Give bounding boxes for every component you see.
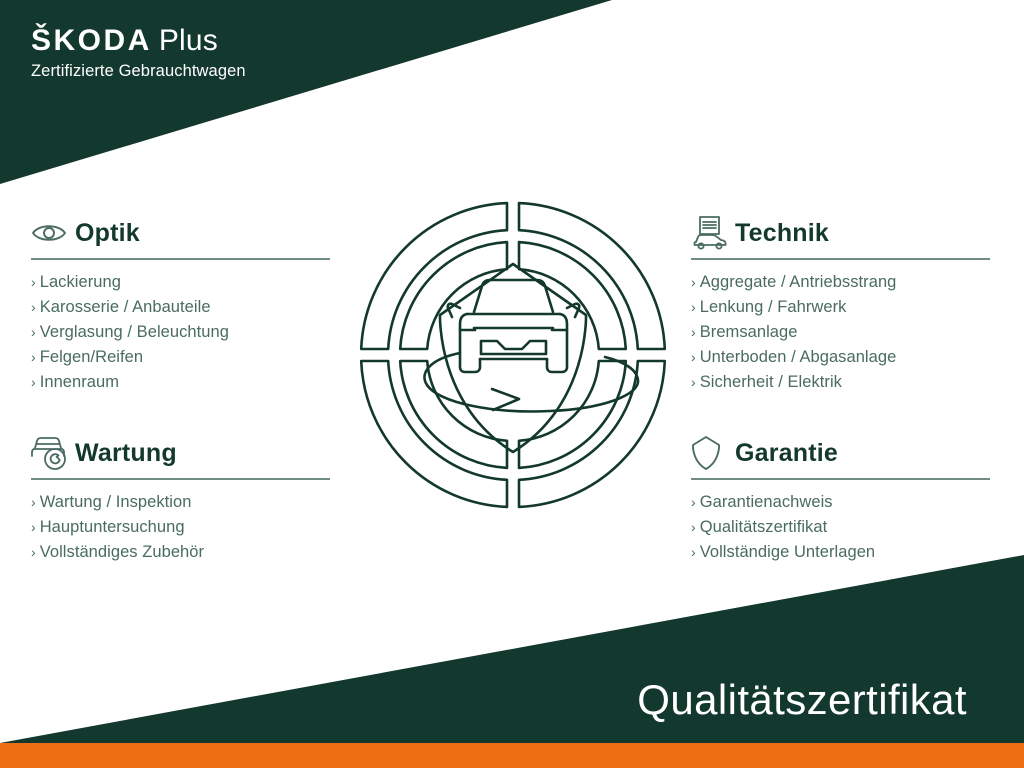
list-item: ›Vollständiges Zubehör <box>31 540 331 565</box>
chevron-right-icon: › <box>691 494 696 510</box>
list-item-label: Garantienachweis <box>700 493 833 511</box>
list-item: ›Wartung / Inspektion <box>31 490 331 515</box>
footer-title: Qualitätszertifikat <box>637 676 967 724</box>
car-document-icon <box>691 214 735 252</box>
list-item-label: Unterboden / Abgasanlage <box>700 348 897 366</box>
section-wartung: Wartung ›Wartung / Inspektion ›Hauptunte… <box>31 432 331 565</box>
brand-tagline: Zertifizierte Gebrauchtwagen <box>31 60 246 82</box>
list-item: ›Verglasung / Beleuchtung <box>31 320 331 345</box>
orange-accent-bar <box>0 743 1024 768</box>
chevron-right-icon: › <box>31 544 36 560</box>
content-area: Optik ›Lackierung ›Karosserie / Anbautei… <box>0 0 1024 768</box>
chevron-right-icon: › <box>691 324 696 340</box>
list-item: ›Qualitätszertifikat <box>691 515 991 540</box>
list-item-label: Felgen/Reifen <box>40 348 143 366</box>
chevron-right-icon: › <box>691 519 696 535</box>
list-item: ›Garantienachweis <box>691 490 991 515</box>
section-garantie: Garantie ›Garantienachweis ›Qualitätszer… <box>691 432 991 565</box>
eye-icon <box>31 214 75 252</box>
chevron-right-icon: › <box>31 374 36 390</box>
section-header: Wartung <box>31 432 331 474</box>
section-title: Technik <box>735 219 829 248</box>
list-item-label: Bremsanlage <box>700 323 798 341</box>
brand-logo: ŠKODAPlus <box>31 24 246 58</box>
list-item: ›Innenraum <box>31 370 331 395</box>
list-item: ›Karosserie / Anbauteile <box>31 295 331 320</box>
section-divider <box>31 478 330 480</box>
section-divider <box>691 478 990 480</box>
chevron-right-icon: › <box>31 299 36 315</box>
section-optik: Optik ›Lackierung ›Karosserie / Anbautei… <box>31 212 331 395</box>
list-item-label: Lenkung / Fahrwerk <box>700 298 847 316</box>
certificate-page: ŠKODAPlus Zertifizierte Gebrauchtwagen Q… <box>0 0 1024 768</box>
section-header: Technik <box>691 212 991 254</box>
list-item-label: Hauptuntersuchung <box>40 518 185 536</box>
list-item-label: Vollständiges Zubehör <box>40 543 204 561</box>
brand-lockup: ŠKODAPlus Zertifizierte Gebrauchtwagen <box>31 24 246 82</box>
chevron-right-icon: › <box>31 324 36 340</box>
section-title: Garantie <box>735 439 838 468</box>
chevron-right-icon: › <box>31 519 36 535</box>
chevron-right-icon: › <box>691 349 696 365</box>
list-item-label: Lackierung <box>40 273 121 291</box>
list-item-label: Vollständige Unterlagen <box>700 543 875 561</box>
brand-logo-plus: Plus <box>159 24 218 57</box>
section-divider <box>691 258 990 260</box>
chevron-right-icon: › <box>31 494 36 510</box>
list-item: ›Vollständige Unterlagen <box>691 540 991 565</box>
shield-icon <box>691 434 735 472</box>
section-header: Optik <box>31 212 331 254</box>
list-item-label: Aggregate / Antriebsstrang <box>700 273 897 291</box>
section-list: ›Garantienachweis ›Qualitätszertifikat ›… <box>691 490 991 565</box>
list-item: ›Hauptuntersuchung <box>31 515 331 540</box>
section-title: Optik <box>75 219 140 248</box>
chevron-right-icon: › <box>691 544 696 560</box>
list-item: ›Felgen/Reifen <box>31 345 331 370</box>
car-wrench-icon <box>31 434 75 472</box>
list-item-label: Sicherheit / Elektrik <box>700 373 842 391</box>
section-technik: Technik ›Aggregate / Antriebsstrang ›Len… <box>691 212 991 395</box>
section-divider <box>31 258 330 260</box>
list-item-label: Verglasung / Beleuchtung <box>40 323 229 341</box>
brand-logo-mark: ŠKODA <box>31 24 152 57</box>
list-item: ›Bremsanlage <box>691 320 991 345</box>
list-item-label: Karosserie / Anbauteile <box>40 298 211 316</box>
list-item: ›Aggregate / Antriebsstrang <box>691 270 991 295</box>
section-title: Wartung <box>75 439 177 468</box>
section-list: ›Lackierung ›Karosserie / Anbauteile ›Ve… <box>31 270 331 395</box>
list-item: ›Lenkung / Fahrwerk <box>691 295 991 320</box>
chevron-right-icon: › <box>691 274 696 290</box>
section-list: ›Wartung / Inspektion ›Hauptuntersuchung… <box>31 490 331 565</box>
chevron-right-icon: › <box>31 349 36 365</box>
list-item-label: Wartung / Inspektion <box>40 493 192 511</box>
list-item: ›Unterboden / Abgasanlage <box>691 345 991 370</box>
chevron-right-icon: › <box>691 299 696 315</box>
section-header: Garantie <box>691 432 991 474</box>
chevron-right-icon: › <box>31 274 36 290</box>
list-item: ›Lackierung <box>31 270 331 295</box>
list-item-label: Qualitätszertifikat <box>700 518 828 536</box>
list-item-label: Innenraum <box>40 373 119 391</box>
section-list: ›Aggregate / Antriebsstrang ›Lenkung / F… <box>691 270 991 395</box>
chevron-right-icon: › <box>691 374 696 390</box>
list-item: ›Sicherheit / Elektrik <box>691 370 991 395</box>
